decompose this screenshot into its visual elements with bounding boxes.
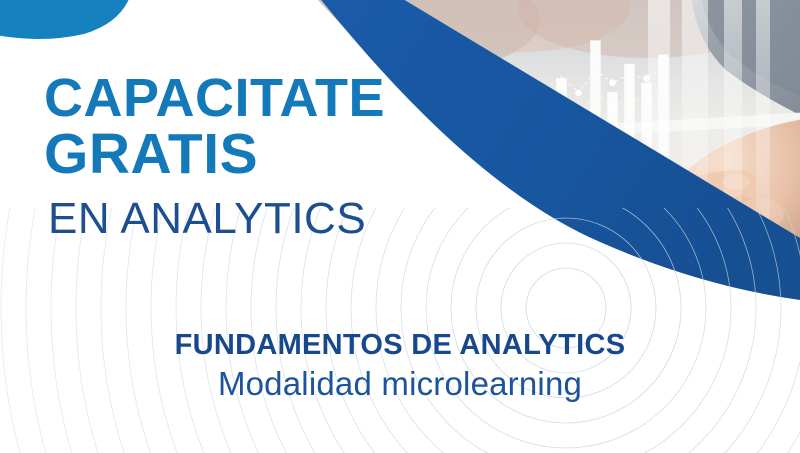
- headline-block: CAPACITATE GRATIS EN ANALYTICS: [44, 72, 385, 241]
- overlay-node: [643, 75, 650, 82]
- headline-line-capacitate: CAPACITATE: [44, 72, 385, 125]
- course-subtitle: Modalidad microlearning: [0, 366, 800, 402]
- promo-banner: CAPACITATE GRATIS EN ANALYTICS FUNDAMENT…: [0, 0, 800, 453]
- headline-line-en-analytics: EN ANALYTICS: [48, 197, 385, 241]
- headline-line-gratis: GRATIS: [44, 127, 385, 183]
- overlay-node: [575, 90, 582, 97]
- overlay-node: [609, 79, 616, 86]
- overlay-node: [610, 105, 615, 110]
- course-title: FUNDAMENTOS DE ANALYTICS: [0, 330, 800, 360]
- overlay-node: [644, 101, 649, 106]
- course-block: FUNDAMENTOS DE ANALYTICS Modalidad micro…: [0, 330, 800, 403]
